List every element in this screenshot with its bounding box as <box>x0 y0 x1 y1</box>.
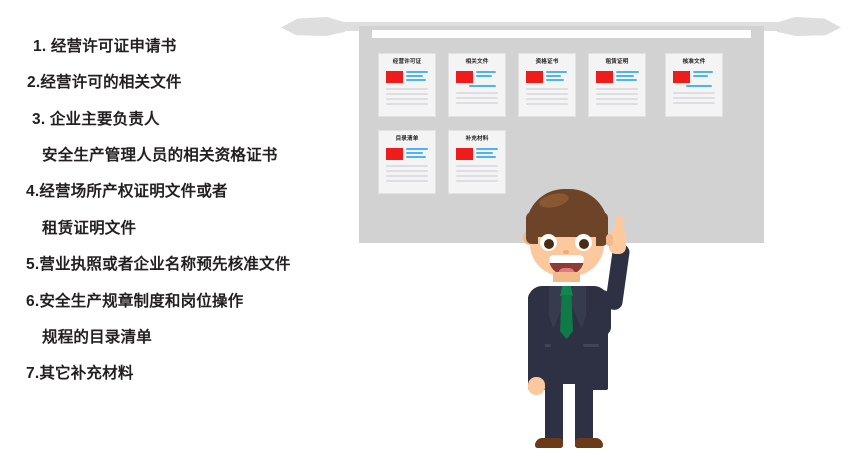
document-text-line <box>406 79 426 81</box>
document-card[interactable]: 经营许可证 <box>379 54 435 116</box>
document-text-line <box>693 75 708 77</box>
document-faint-line <box>526 103 568 105</box>
document-photo-block <box>596 71 613 83</box>
document-text-line <box>693 71 713 73</box>
document-faint-line <box>596 93 638 95</box>
checklist-item-continuation: 规程的目录清单 <box>0 329 340 346</box>
document-faint-line <box>456 92 498 94</box>
document-faint-line <box>526 93 568 95</box>
hand-left <box>528 377 545 395</box>
thumb <box>606 234 613 246</box>
checklist-item: 6.安全生产规章制度和岗位操作 <box>0 293 340 310</box>
arm-left <box>528 290 545 382</box>
document-text-line <box>616 71 639 73</box>
document-text-line <box>406 71 428 73</box>
document-faint-line <box>386 170 428 172</box>
document-card-title: 目录清单 <box>379 137 435 143</box>
document-text-line <box>469 85 496 87</box>
document-text-line <box>476 156 496 158</box>
document-card[interactable]: 补充材料 <box>449 131 505 193</box>
document-card-title: 租赁证明 <box>589 60 645 66</box>
document-faint-line <box>526 98 568 100</box>
document-text-line <box>616 75 634 77</box>
document-text-line <box>406 148 428 150</box>
leg-right <box>575 384 593 446</box>
document-faint-line <box>386 103 428 105</box>
document-card[interactable]: 核准文件 <box>666 54 722 116</box>
document-faint-line <box>673 97 715 99</box>
document-text-line <box>546 79 564 81</box>
document-faint-line <box>386 175 428 177</box>
document-card[interactable]: 租赁证明 <box>589 54 645 116</box>
document-card[interactable]: 目录清单 <box>379 131 435 193</box>
document-faint-line <box>596 88 638 90</box>
document-text-line <box>476 148 498 150</box>
businessman-character <box>497 186 697 458</box>
document-text-line <box>546 71 567 73</box>
document-card-title: 核准文件 <box>666 60 722 66</box>
leg-left <box>545 384 563 446</box>
document-photo-block <box>456 71 473 83</box>
document-faint-line <box>526 88 568 90</box>
document-faint-line <box>673 92 715 94</box>
checklist-item: 5.营业执照或者企业名称预先核准文件 <box>0 256 340 273</box>
document-text-line <box>616 79 637 81</box>
checklist-item: 7.其它补充材料 <box>0 365 340 382</box>
document-photo-block <box>673 71 690 83</box>
document-card-title: 相关文件 <box>449 60 505 66</box>
document-text-line <box>476 71 496 73</box>
document-card-title: 资格证书 <box>519 60 575 66</box>
teeth <box>549 255 584 263</box>
nose <box>563 250 569 254</box>
document-card-title: 补充材料 <box>449 137 505 143</box>
document-text-line <box>476 152 493 154</box>
document-faint-line <box>456 97 498 99</box>
rail-end-cap-right <box>777 17 841 36</box>
document-text-line <box>406 156 426 158</box>
leg-gap <box>563 384 575 446</box>
document-faint-line <box>596 103 638 105</box>
document-faint-line <box>456 170 498 172</box>
document-faint-line <box>456 102 498 104</box>
document-faint-line <box>386 165 428 167</box>
document-text-line <box>406 152 423 154</box>
document-faint-line <box>386 98 428 100</box>
document-text-line <box>406 75 423 77</box>
document-faint-line <box>386 180 428 182</box>
document-faint-line <box>456 165 498 167</box>
index-finger <box>615 216 624 236</box>
shoe-right <box>575 438 603 448</box>
document-card[interactable]: 资格证书 <box>519 54 575 116</box>
document-faint-line <box>386 88 428 90</box>
document-photo-block <box>456 148 473 160</box>
pupil-right <box>579 239 589 249</box>
document-photo-block <box>526 71 543 83</box>
document-faint-line <box>673 102 715 104</box>
document-faint-line <box>456 180 498 182</box>
document-faint-line <box>386 93 428 95</box>
slide-canvas: 1. 经营许可证申请书 2.经营许可的相关文件 3. 企业主要负责人 安全生产管… <box>0 0 852 458</box>
document-text-line <box>476 75 492 77</box>
document-card[interactable]: 相关文件 <box>449 54 505 116</box>
rail-end-cap-left <box>281 17 345 36</box>
document-faint-line <box>596 98 638 100</box>
document-text-line <box>546 75 561 77</box>
document-photo-block <box>386 148 403 160</box>
document-faint-line <box>456 175 498 177</box>
pupil-left <box>544 239 554 249</box>
document-text-line <box>686 85 712 87</box>
board-title-strip <box>372 30 751 38</box>
document-card-title: 经营许可证 <box>379 60 435 66</box>
shoe-left <box>535 438 563 448</box>
document-photo-block <box>386 71 403 83</box>
jacket-pocket-right <box>583 344 599 347</box>
tie <box>560 295 573 339</box>
